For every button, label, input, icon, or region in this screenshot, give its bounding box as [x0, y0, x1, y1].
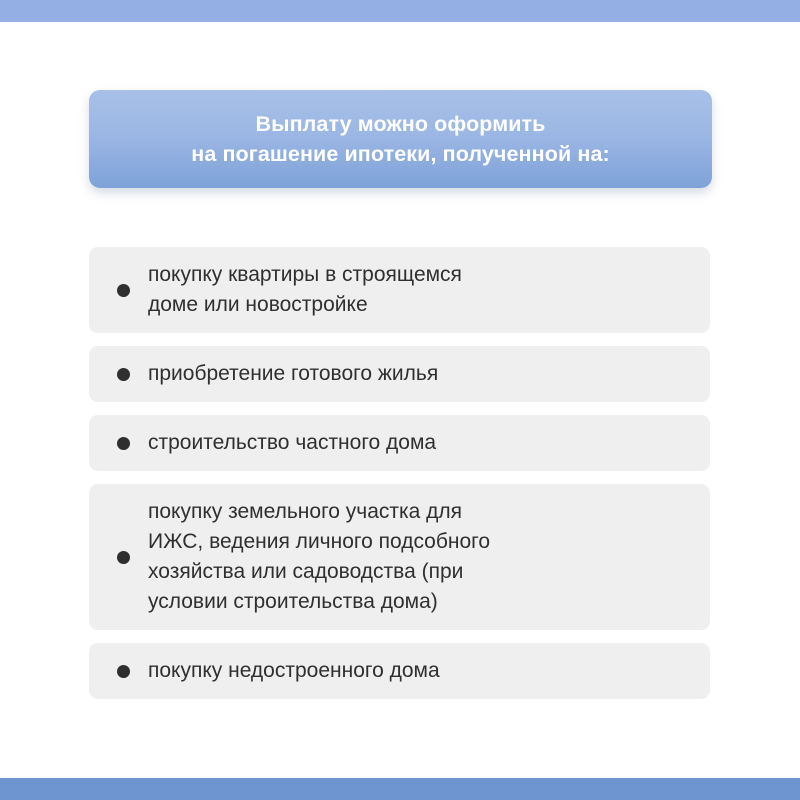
header-banner: Выплату можно оформить на погашение ипот… — [89, 90, 712, 188]
bullet-icon — [117, 551, 130, 564]
bullet-icon — [117, 437, 130, 450]
list-item-label: покупку квартиры в строящемся доме или н… — [148, 260, 690, 320]
list-item: строительство частного дома — [89, 415, 710, 471]
list-item: покупку земельного участка для ИЖС, веде… — [89, 484, 710, 630]
list-item: покупку квартиры в строящемся доме или н… — [89, 247, 710, 333]
list-item-label: строительство частного дома — [148, 428, 690, 458]
list-item-label: покупку земельного участка для ИЖС, веде… — [148, 497, 690, 617]
list-item-label: покупку недостроенного дома — [148, 656, 690, 686]
list-item: покупку недостроенного дома — [89, 643, 710, 699]
list-item-label: приобретение готового жилья — [148, 359, 690, 389]
bullet-icon — [117, 368, 130, 381]
bullet-icon — [117, 284, 130, 297]
list-item: приобретение готового жилья — [89, 346, 710, 402]
page-title: Выплату можно оформить на погашение ипот… — [191, 109, 610, 169]
bullet-icon — [117, 665, 130, 678]
content-column: Выплату можно оформить на погашение ипот… — [89, 0, 712, 800]
eligible-purposes-list: покупку квартиры в строящемся доме или н… — [89, 247, 710, 699]
